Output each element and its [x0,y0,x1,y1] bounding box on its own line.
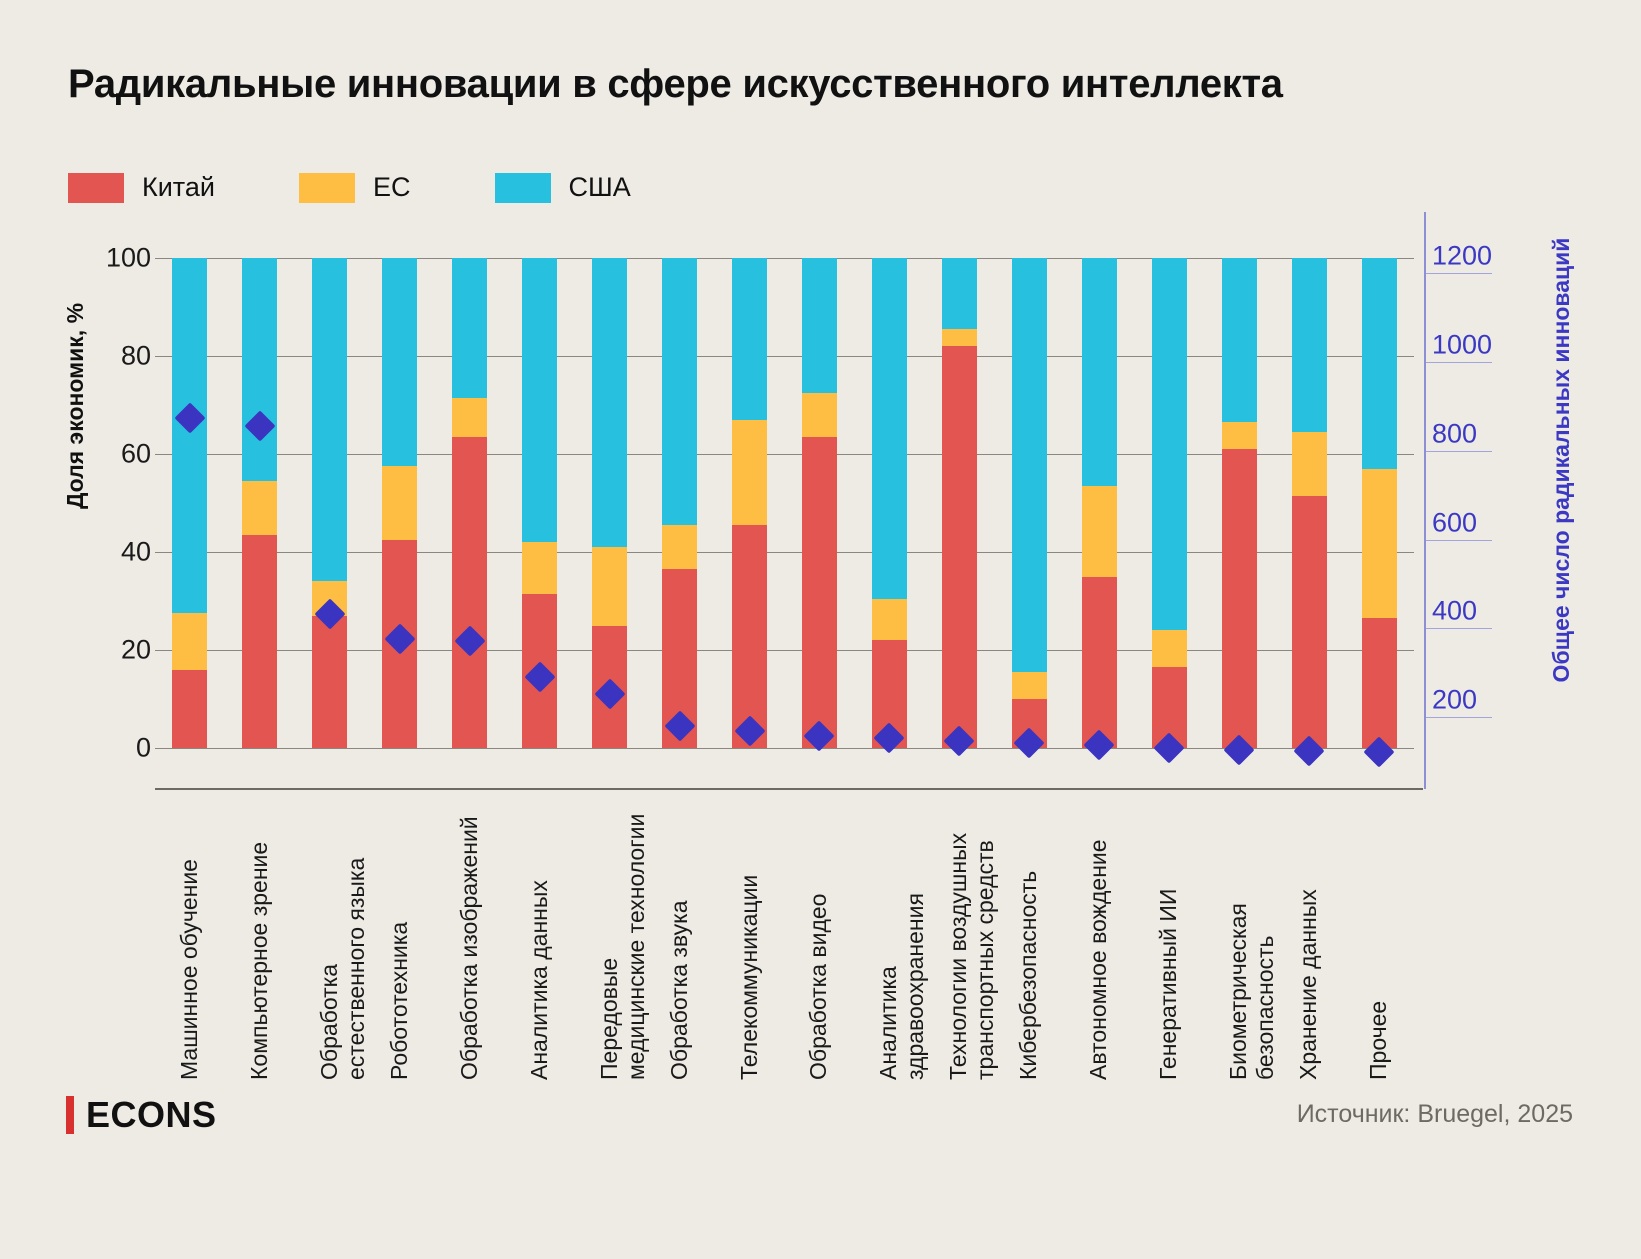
x-axis-label: Телекоммуникации [736,800,763,1080]
bar-column[interactable] [172,258,207,748]
bar-segment-США[interactable] [452,258,487,398]
bar-column[interactable] [1082,258,1117,748]
bar-segment-ЕС[interactable] [382,466,417,540]
x-axis-label: Передовые медицинские технологии [596,800,650,1080]
econs-logo: ECONS [66,1094,217,1136]
bar-segment-США[interactable] [732,258,767,420]
bar-segment-Китай[interactable] [242,535,277,748]
x-axis-label: Хранение данных [1295,800,1322,1080]
legend-item-usa: США [495,172,715,203]
bar-segment-Китай[interactable] [732,525,767,748]
y-tick-right-400: 400 [1432,596,1477,627]
bar-segment-США[interactable] [312,258,347,581]
y-tick-left-20: 20 [61,635,151,666]
bar-segment-ЕС[interactable] [242,481,277,535]
x-axis-label: Компьютерное зрение [246,800,273,1080]
bar-segment-Китай[interactable] [172,670,207,748]
legend-swatch-eu-icon [299,173,355,203]
bar-segment-Китай[interactable] [312,616,347,748]
x-axis-label: Кибербезопасность [1015,800,1042,1080]
y-tick-right-mark-1200 [1424,273,1492,274]
bar-segment-США[interactable] [802,258,837,393]
logo-bar-icon [66,1096,74,1134]
x-axis-baseline [155,788,1423,790]
bar-segment-ЕС[interactable] [802,393,837,437]
y-tick-right-mark-600 [1424,540,1492,541]
x-axis-label: Прочее [1365,800,1392,1080]
bar-column[interactable] [732,258,767,748]
legend-label-china: Китай [142,172,215,203]
y-tick-right-800: 800 [1432,418,1477,449]
bar-segment-ЕС[interactable] [452,398,487,437]
bar-segment-ЕС[interactable] [1082,486,1117,577]
bar-segment-Китай[interactable] [1362,618,1397,748]
bar-column[interactable] [1362,258,1397,748]
bar-column[interactable] [942,258,977,748]
bar-column[interactable] [1292,258,1327,748]
y-tick-left-80: 80 [61,341,151,372]
bar-segment-США[interactable] [1222,258,1257,422]
y-tick-right-mark-400 [1424,628,1492,629]
bar-segment-ЕС[interactable] [942,329,977,346]
y-axis-right-line [1424,212,1426,789]
bar-segment-ЕС[interactable] [1012,672,1047,699]
x-axis-label: Робототехника [386,800,413,1080]
bar-segment-США[interactable] [592,258,627,547]
x-axis-label: Обработка видео [805,800,832,1080]
bar-segment-США[interactable] [1012,258,1047,672]
bar-segment-ЕС[interactable] [172,613,207,669]
bar-column[interactable] [1012,258,1047,748]
x-axis-label: Аналитика здравоохранения [875,800,929,1080]
x-axis-label: Машинное обучение [176,800,203,1080]
x-axis-label: Автономное вождение [1085,800,1112,1080]
page-title: Радикальные инновации в сфере искусствен… [68,62,1283,107]
source-note: Источник: Bruegel, 2025 [1297,1100,1573,1129]
bar-column[interactable] [382,258,417,748]
x-axis-label: Обработка изображений [456,800,483,1080]
y-tick-right-1200: 1200 [1432,241,1492,272]
y-tick-right-mark-200 [1424,717,1492,718]
bar-segment-Китай[interactable] [942,346,977,748]
logo-text: ECONS [86,1094,217,1136]
bar-segment-Китай[interactable] [452,437,487,748]
y-axis-left-label: Доля экономик, % [62,246,89,566]
x-axis-label: Аналитика данных [526,800,553,1080]
bar-segment-ЕС[interactable] [1362,469,1397,618]
y-tick-left-0: 0 [61,733,151,764]
bar-segment-Китай[interactable] [1082,577,1117,749]
bar-column[interactable] [802,258,837,748]
bar-column[interactable] [312,258,347,748]
bar-segment-США[interactable] [872,258,907,599]
legend-swatch-china-icon [68,173,124,203]
bar-segment-Китай[interactable] [1292,496,1327,748]
y-tick-left-40: 40 [61,537,151,568]
y-axis-right-label: Общее число радикальных инноваций [1548,200,1575,720]
bar-segment-ЕС[interactable] [732,420,767,525]
bar-segment-ЕС[interactable] [1152,630,1187,667]
bar-segment-ЕС[interactable] [1292,432,1327,496]
legend-item-eu: ЕС [299,172,495,203]
legend-label-eu: ЕС [373,172,411,203]
bar-column[interactable] [1222,258,1257,748]
bar-segment-США[interactable] [242,258,277,481]
bar-segment-ЕС[interactable] [592,547,627,625]
bar-segment-США[interactable] [382,258,417,466]
bar-column[interactable] [1152,258,1187,748]
plot-area [155,258,1414,748]
y-tick-right-600: 600 [1432,507,1477,538]
bar-segment-ЕС[interactable] [522,542,557,593]
bar-segment-ЕС[interactable] [662,525,697,569]
x-axis-label: Обработка естественного языка [316,800,370,1080]
y-tick-left-100: 100 [61,243,151,274]
x-axis-label: Технологии воздушных транспортных средст… [945,800,999,1080]
legend-item-china: Китай [68,172,299,203]
bar-column[interactable] [522,258,557,748]
bar-segment-США[interactable] [1362,258,1397,469]
bar-segment-США[interactable] [1152,258,1187,630]
x-axis-label: Биометрическая безопасность [1225,800,1279,1080]
bar-segment-США[interactable] [662,258,697,525]
y-tick-left-60: 60 [61,439,151,470]
bar-column[interactable] [242,258,277,748]
y-tick-right-1000: 1000 [1432,330,1492,361]
bar-segment-ЕС[interactable] [872,599,907,641]
bar-column[interactable] [872,258,907,748]
bar-segment-США[interactable] [1292,258,1327,432]
bar-column[interactable] [592,258,627,748]
y-tick-right-200: 200 [1432,685,1477,716]
x-axis-label: Обработка звука [666,800,693,1080]
legend-swatch-usa-icon [495,173,551,203]
bar-column[interactable] [452,258,487,748]
bar-column[interactable] [662,258,697,748]
y-tick-right-mark-1000 [1424,362,1492,363]
bar-segment-США[interactable] [522,258,557,542]
bar-segment-Китай[interactable] [802,437,837,748]
bar-segment-ЕС[interactable] [1222,422,1257,449]
bar-segment-Китай[interactable] [1222,449,1257,748]
y-tick-right-mark-800 [1424,451,1492,452]
x-axis-label: Генеративный ИИ [1155,800,1182,1080]
legend-label-usa: США [569,172,631,203]
bar-segment-США[interactable] [942,258,977,329]
bar-segment-США[interactable] [1082,258,1117,486]
chart-legend: Китай ЕС США [68,172,715,203]
bar-segment-США[interactable] [172,258,207,613]
